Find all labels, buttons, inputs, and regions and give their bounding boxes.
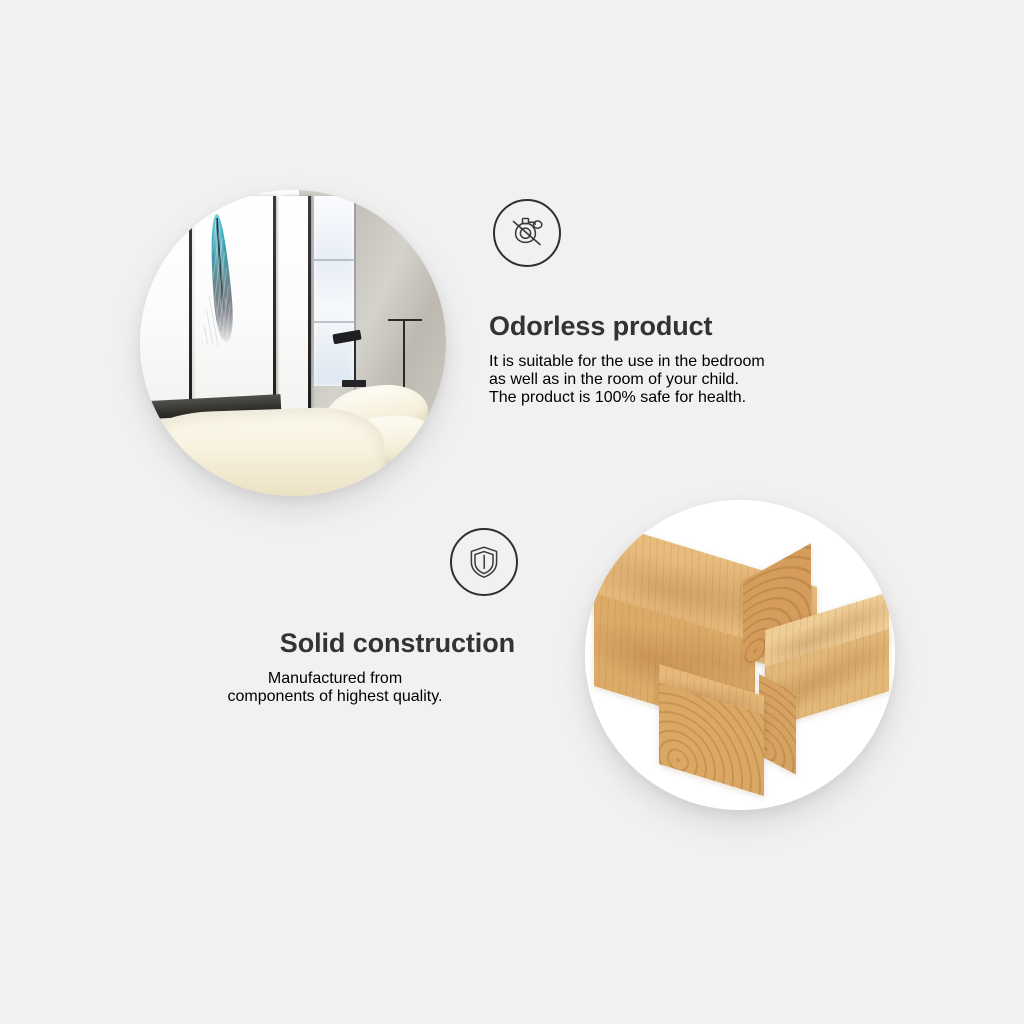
panel-divider [189,196,192,416]
solid-construction-body-line: components of highest quality. [155,688,515,706]
solid-construction-body-line: Manufactured from [155,670,515,688]
bedroom-photo-inner [140,190,446,496]
feather-canvas-panel [195,196,275,416]
bedroom-feather-wall-art-photo [140,190,446,496]
odorless-title: Odorless product [489,311,765,342]
feather-canvas-panel [279,196,310,416]
panel-divider [308,196,311,416]
feather-canvas-panel [140,196,189,416]
shield-icon-glyph [464,542,504,582]
infographic-stage: Odorless product It is suitable for the … [0,0,1024,1024]
no-perfume-icon-glyph [506,212,548,254]
wooden-beams-photo-inner [585,500,895,810]
wooden-beams-photo [585,500,895,810]
no-perfume-icon [493,199,561,267]
bed-duvet [140,406,387,496]
bedroom-window [314,196,354,386]
odorless-body-line: as well as in the room of your child. [489,371,765,389]
odorless-body-line: It is suitable for the use in the bedroo… [489,353,765,371]
bedside-lamp-base [342,380,366,387]
odorless-feature-text: Odorless product It is suitable for the … [489,311,765,423]
shield-icon [450,528,518,596]
odorless-body-line: The product is 100% safe for health. [489,389,765,407]
solid-construction-title: Solid construction [155,628,515,659]
panel-divider [273,196,276,416]
bed-rail-top [388,319,422,321]
solid-construction-feature-text: Solid construction Manufactured from com… [155,628,515,722]
feather-graphic [140,218,143,342]
